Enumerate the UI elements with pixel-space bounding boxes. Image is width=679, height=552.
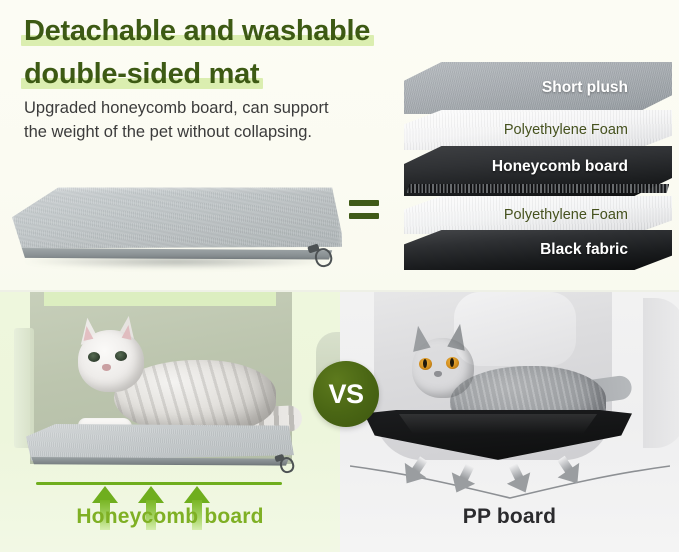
subtext-line-2: the weight of the pet without collapsing… [24,120,394,144]
mat-product-photo [12,186,342,278]
layer-texture [404,62,672,114]
cat-pupil-left [423,359,427,368]
infographic-root: Detachable and washable double-sided mat… [0,0,679,552]
layer-label: Black fabric [540,241,628,259]
headline-block: Detachable and washable double-sided mat [24,14,424,91]
equals-bar-top [349,200,379,206]
mat-illustration [12,186,342,278]
equals-bar-bottom [349,213,379,219]
layer-polyethylene-foam-top: Polyethylene Foam [404,110,672,150]
cat-nose [434,371,442,377]
vs-badge-label: VS [328,381,363,408]
cat-nose [102,364,111,371]
label-pp-board: PP board [340,505,679,529]
zipper-loop [278,455,296,474]
zipper-pull-icon [274,454,296,472]
cat-photo-left [56,314,286,442]
support-line-flat [36,482,282,485]
layer-honeycomb-board: Honeycomb board [404,146,672,196]
layer-polyethylene-foam-bottom: Polyethylene Foam [404,196,672,234]
layer-slab [404,230,672,270]
layer-label: Polyethylene Foam [504,207,628,223]
layer-stack-diagram: Short plush Polyethylene Foam Honeycomb … [404,62,672,270]
honeycomb-flute-edge [407,184,670,193]
mat-flat-left [26,424,294,476]
layer-black-fabric: Black fabric [404,230,672,270]
label-honeycomb-board: Honeycomb board [0,505,340,529]
cat-pupil-right [450,358,454,367]
layer-label: Honeycomb board [492,158,628,176]
zipper-pull-icon [307,244,335,266]
headline-line-1-text: Detachable and washable [24,15,370,47]
layer-label: Polyethylene Foam [504,122,628,138]
mat-side-edge [29,457,292,468]
layer-short-plush: Short plush [404,62,672,114]
cat-eye-right [115,351,127,361]
layer-label: Short plush [542,79,628,97]
headline-line-1: Detachable and washable [24,14,370,48]
carrier-top-edge-left [44,292,276,306]
equals-icon [349,200,379,224]
subtext-block: Upgraded honeycomb board, can support th… [24,96,394,144]
cat-eye-left [88,352,100,362]
headline-line-2-text: double-sided mat [24,58,259,90]
vs-badge: VS [313,361,379,427]
carrier-side-right [643,298,679,448]
board-sheen [380,414,616,434]
mat-drop-shadow [25,258,329,269]
top-section: Detachable and washable double-sided mat… [0,0,679,292]
subtext-line-1: Upgraded honeycomb board, can support [24,96,394,120]
headline-line-2: double-sided mat [24,57,259,91]
